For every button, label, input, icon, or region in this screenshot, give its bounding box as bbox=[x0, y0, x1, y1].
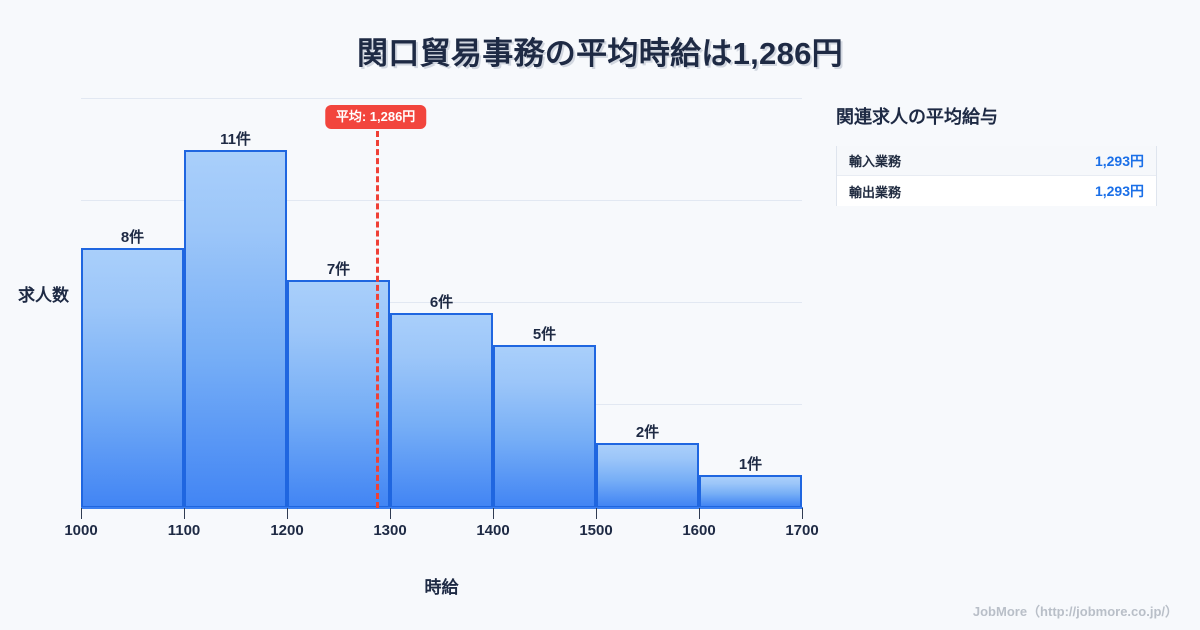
bar-value-label: 1件 bbox=[739, 453, 762, 474]
table-row[interactable]: 輸出業務1,293円 bbox=[837, 176, 1156, 206]
table-row-value: 1,293円 bbox=[1095, 151, 1144, 171]
x-axis-tick-label: 1700 bbox=[785, 522, 818, 539]
chart-plot-area: 8件11件7件6件5件2件1件 bbox=[81, 98, 802, 508]
x-axis-tick-label: 1100 bbox=[168, 522, 201, 539]
footer-credit: JobMore（http://jobmore.co.jp/） bbox=[973, 601, 1178, 620]
bar-value-label: 11件 bbox=[220, 128, 251, 149]
related-salary-table: 輸入業務1,293円輸出業務1,293円 bbox=[836, 146, 1157, 206]
histogram-bar bbox=[699, 475, 802, 508]
x-axis-tick bbox=[390, 508, 391, 519]
x-axis-tick bbox=[802, 508, 803, 519]
x-axis-tick bbox=[81, 508, 82, 519]
x-axis-tick-label: 1200 bbox=[270, 522, 303, 539]
bar-value-label: 7件 bbox=[327, 258, 350, 279]
x-axis-tick-label: 1400 bbox=[476, 522, 509, 539]
table-row-label: 輸出業務 bbox=[849, 182, 901, 201]
histogram-bar bbox=[493, 345, 596, 508]
table-row-label: 輸入業務 bbox=[849, 151, 901, 170]
table-row[interactable]: 輸入業務1,293円 bbox=[837, 146, 1156, 176]
bar-value-label: 6件 bbox=[430, 291, 453, 312]
table-row-value: 1,293円 bbox=[1095, 181, 1144, 201]
histogram-bar bbox=[184, 150, 287, 508]
related-salary-title: 関連求人の平均給与 bbox=[836, 103, 1166, 129]
x-axis-tick bbox=[596, 508, 597, 519]
average-dashed-line bbox=[376, 131, 379, 508]
bar-value-label: 8件 bbox=[121, 226, 144, 247]
x-axis-tick-label: 1000 bbox=[64, 522, 97, 539]
related-salary-panel: 関連求人の平均給与 輸入業務1,293円輸出業務1,293円 bbox=[836, 103, 1166, 206]
x-axis-title: 時給 bbox=[81, 573, 802, 598]
bar-value-label: 5件 bbox=[533, 323, 556, 344]
x-axis-tick bbox=[699, 508, 700, 519]
histogram-bar bbox=[390, 313, 493, 508]
average-badge: 平均: 1,286円 bbox=[325, 105, 426, 129]
x-axis-tick bbox=[287, 508, 288, 519]
x-axis-tick-label: 1500 bbox=[579, 522, 612, 539]
histogram-bar bbox=[287, 280, 390, 508]
y-axis-title: 求人数 bbox=[18, 281, 69, 306]
x-axis-tick-label: 1300 bbox=[373, 522, 406, 539]
page-title: 関口貿易事務の平均時給は1,286円 bbox=[0, 28, 1200, 73]
histogram-bar bbox=[596, 443, 699, 508]
x-axis-tick bbox=[184, 508, 185, 519]
x-axis-tick bbox=[493, 508, 494, 519]
gridline bbox=[81, 98, 802, 99]
x-axis-line bbox=[81, 507, 803, 509]
histogram-bar bbox=[81, 248, 184, 508]
x-axis-tick-label: 1600 bbox=[682, 522, 715, 539]
bar-value-label: 2件 bbox=[636, 421, 659, 442]
